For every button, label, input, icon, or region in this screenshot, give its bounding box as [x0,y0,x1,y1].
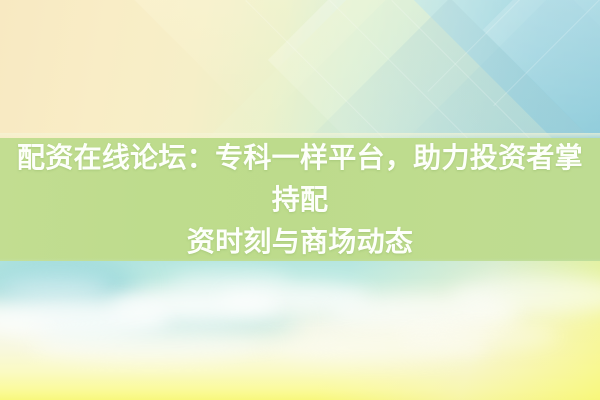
facet-shape-f [238,0,600,140]
top-gradient-backdrop [0,0,600,140]
cloud-shape [170,271,290,293]
facet-edge-4 [493,0,600,106]
facet-edge-2 [391,0,533,140]
sky-haze-left [0,261,140,311]
facet-shape-d [104,0,415,126]
facet-edge-3 [245,0,401,140]
headline-band: 配资在线论坛：专科一样平台，助力投资者掌持配 资时刻与商场动态 [0,138,600,261]
sky-haze-center [40,309,300,339]
facet-shape-e [483,0,600,140]
cloud-shape [450,275,600,315]
facet-edge-1 [329,0,471,140]
cloud-shape [220,283,370,313]
sky-backdrop [0,261,600,400]
promo-banner: 配资在线论坛：专科一样平台，助力投资者掌持配 资时刻与商场动态 [0,0,600,400]
cloud-shape [400,323,560,349]
banner-headline: 配资在线论坛：专科一样平台，助力投资者掌持配 资时刻与商场动态 [0,137,600,263]
facet-edge-5 [427,0,520,92]
facet-shape-a [268,0,600,140]
cloud-shape [260,333,490,363]
facet-shape-c [376,0,600,140]
cloud-shape [330,295,520,331]
headline-line-1: 配资在线论坛：专科一样平台，助力投资者掌持配 [17,141,583,216]
headline-line-2: 资时刻与商场动态 [187,225,413,258]
